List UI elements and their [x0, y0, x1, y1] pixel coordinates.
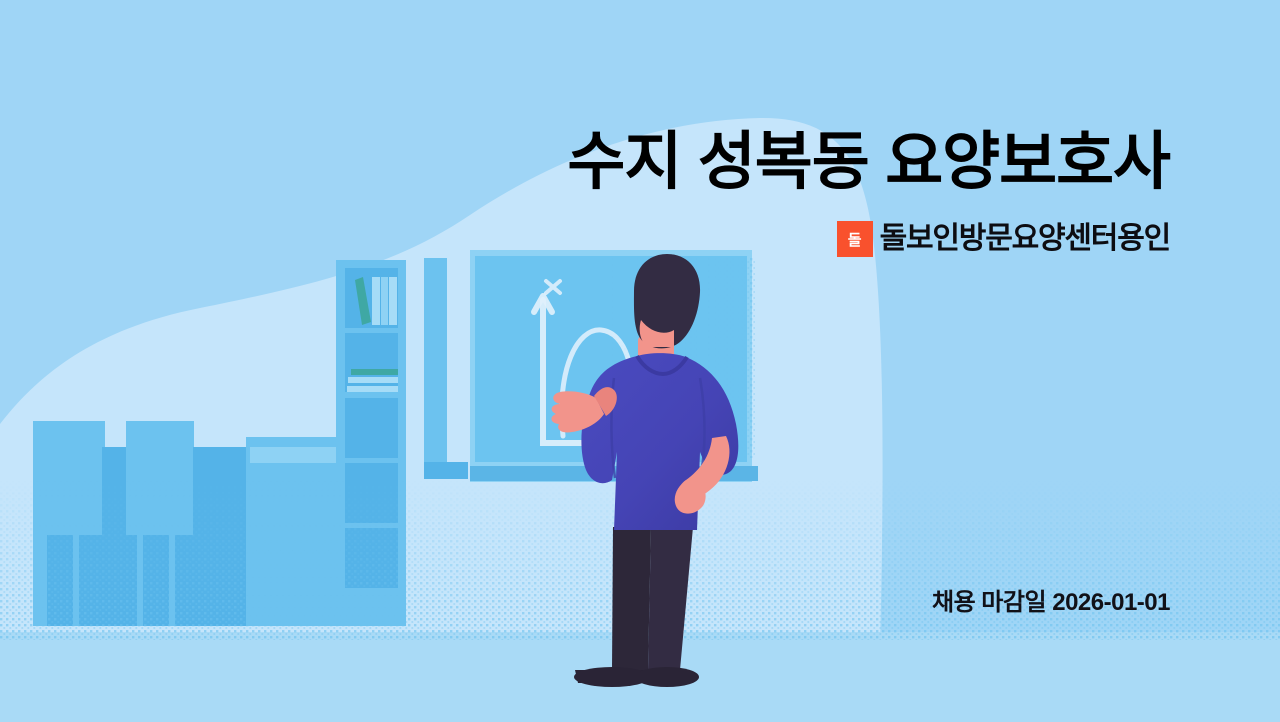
bookshelf-shelf-2	[345, 333, 398, 392]
person-left-leg	[612, 527, 651, 670]
background-layer	[0, 0, 1280, 722]
job-posting-banner: 수지 성복동 요양보호사 돌 돌보인방문요양센터용인 채용 마감일 2026-0…	[0, 0, 1280, 722]
bookshelf-books-top	[355, 277, 397, 325]
person-right-shoe	[635, 667, 699, 687]
bookshelf-books-middle	[347, 369, 398, 392]
